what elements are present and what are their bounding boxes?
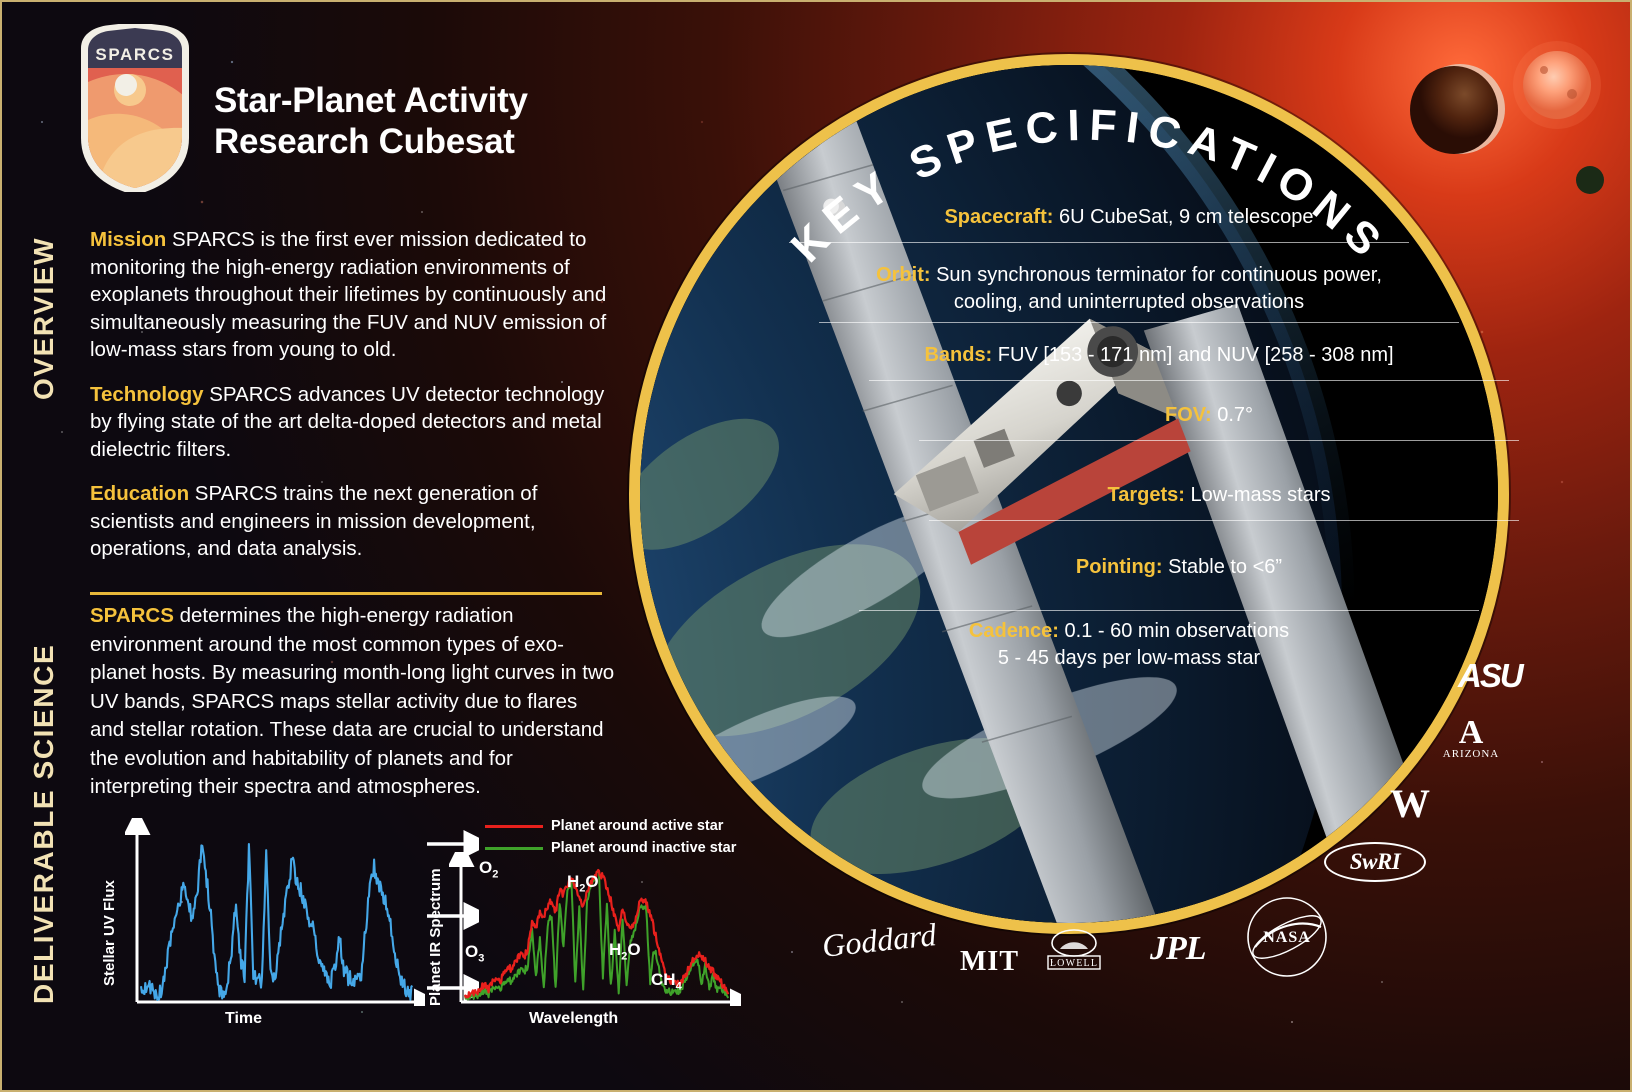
spec-spacecraft: Spacecraft: 6U CubeSat, 9 cm telescope — [779, 204, 1479, 231]
page-title: Star-Planet Activity Research Cubesat — [214, 80, 694, 162]
spec-value-cadence: 0.1 - 60 min observations — [1059, 620, 1289, 642]
logo-lowell-observatory: LOWELL — [1032, 927, 1116, 976]
logo-arizona-mark: A — [1432, 718, 1510, 748]
science-text-block: SPARCS determines the high-energy radiat… — [90, 602, 615, 819]
section-label-overview: OVERVIEW — [28, 230, 60, 400]
title-line-1: Star-Planet Activity — [214, 80, 694, 121]
science-body: determines the high-energy radiation env… — [90, 604, 614, 798]
spec-label-cadence: Cadence: — [969, 620, 1059, 642]
spec-rule — [859, 610, 1479, 611]
sparcs-mission-patch-logo: SPARCS — [74, 24, 196, 192]
logo-mit: MIT — [960, 946, 1019, 978]
annotation-o3: O3 — [465, 942, 484, 964]
logo-asu: ASU — [1458, 657, 1522, 695]
spec-value-cadence-line2: 5 - 45 days per low-mass star — [779, 645, 1479, 672]
lightcurve-y-axis-label: Stellar UV Flux — [101, 866, 118, 986]
annotation-h2o-2: H2O — [609, 940, 641, 962]
overview-text-block: Mission SPARCS is the first ever mission… — [90, 226, 610, 580]
spec-value-orbit: Sun synchronous terminator for continuou… — [931, 264, 1382, 286]
spec-rule — [789, 242, 1409, 243]
spec-fov: FOV: 0.7° — [879, 402, 1539, 429]
logo-jpl: JPL — [1150, 930, 1206, 968]
logo-arizona-wordmark: ARIZONA — [1432, 748, 1510, 760]
overview-heading: Education — [90, 482, 189, 505]
overview-heading: Technology — [90, 383, 204, 406]
spec-value-bands: FUV [153 - 171 nm] and NUV [258 - 308 nm… — [992, 344, 1393, 366]
spec-label-pointing: Pointing: — [1076, 556, 1163, 578]
title-line-2: Research Cubesat — [214, 121, 694, 162]
logo-university-of-washington: W — [1390, 780, 1430, 827]
spec-label-fov: FOV: — [1165, 404, 1212, 426]
overview-heading: Mission — [90, 228, 166, 251]
spec-label-bands: Bands: — [924, 344, 992, 366]
spec-targets: Targets: Low-mass stars — [899, 482, 1539, 509]
logo-swri-text: SwRI — [1350, 849, 1400, 875]
spec-rule — [919, 440, 1519, 441]
spectrum-x-axis-label: Wavelength — [529, 1010, 618, 1028]
section-divider — [90, 592, 602, 595]
spectrum-y-axis-label: Planet IR Spectrum — [427, 846, 444, 1006]
spec-label-targets: Targets: — [1107, 484, 1184, 506]
science-heading: SPARCS — [90, 604, 174, 627]
spec-cadence: Cadence: 0.1 - 60 min observations 5 - 4… — [779, 618, 1479, 672]
spec-rule — [869, 380, 1509, 381]
overview-body: SPARCS is the first ever mission dedicat… — [90, 228, 606, 361]
poster-root: SPARCS Star-Planet Activity Research Cub… — [0, 0, 1632, 1092]
logo-swri: SwRI — [1324, 842, 1426, 882]
key-specifications-list: Spacecraft: 6U CubeSat, 9 cm telescope O… — [629, 54, 1509, 934]
spec-label-spacecraft: Spacecraft: — [944, 206, 1053, 228]
overview-paragraph: Mission SPARCS is the first ever mission… — [90, 226, 610, 364]
overview-paragraph: Technology SPARCS advances UV detector t… — [90, 381, 610, 464]
spec-orbit: Orbit: Sun synchronous terminator for co… — [739, 262, 1519, 316]
section-label-deliverable-science: DELIVERABLE SCIENCE — [28, 614, 60, 1004]
spec-value-orbit-line2: cooling, and uninterrupted observations — [739, 289, 1519, 316]
spec-rule — [819, 322, 1459, 323]
logo-nasa: NASA — [1245, 895, 1329, 979]
lightcurve-x-axis-label: Time — [225, 1010, 262, 1028]
annotation-o2: O2 — [479, 858, 498, 880]
logo-university-of-arizona: A ARIZONA — [1432, 718, 1510, 760]
logo-lowell-text: LOWELL — [1050, 958, 1098, 969]
annotation-ch4: CH4 — [651, 970, 682, 992]
logo-nasa-text: NASA — [1263, 929, 1311, 946]
annotation-h2o-1: H2O — [567, 872, 599, 894]
spec-bands: Bands: FUV [153 - 171 nm] and NUV [258 -… — [789, 342, 1529, 369]
legend-swatch-inactive-star — [485, 847, 543, 850]
spec-value-fov: 0.7° — [1212, 404, 1253, 426]
spec-pointing: Pointing: Stable to <6” — [859, 554, 1499, 581]
overview-paragraph: Education SPARCS trains the next generat… — [90, 480, 610, 563]
spec-label-orbit: Orbit: — [876, 264, 930, 286]
legend-swatch-active-star — [485, 825, 543, 828]
spec-value-pointing: Stable to <6” — [1163, 556, 1283, 578]
science-paragraph: SPARCS determines the high-energy radiat… — [90, 602, 615, 802]
logo-lowell-mark: LOWELL — [1032, 927, 1116, 971]
patch-text: SPARCS — [95, 45, 174, 64]
spec-rule — [929, 520, 1519, 521]
spec-value-targets: Low-mass stars — [1185, 484, 1331, 506]
spec-value-spacecraft: 6U CubeSat, 9 cm telescope — [1053, 206, 1313, 228]
